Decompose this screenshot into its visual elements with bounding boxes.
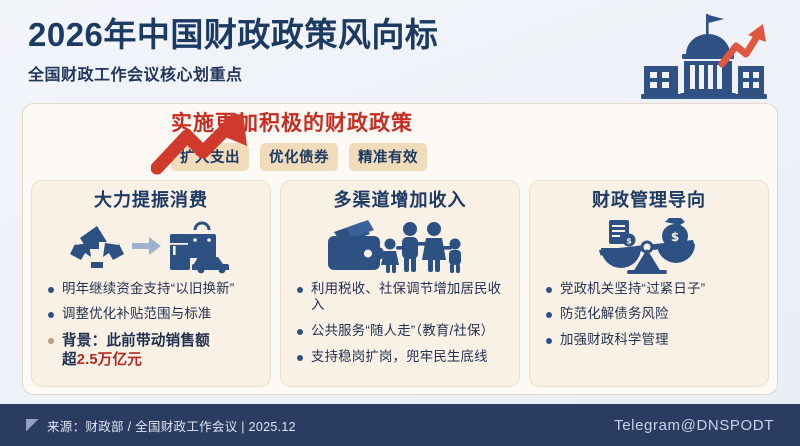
card-title: 财政管理导向 xyxy=(540,190,758,212)
bullet-dot-icon xyxy=(48,287,54,293)
list-item: 公共服务“随人走”（教育/社保） xyxy=(297,323,507,340)
page-footer: 来源：财政部 / 全国财政工作会议 | 2025.12 Telegram@DNS… xyxy=(0,404,800,446)
list-item: 加强财政科学管理 xyxy=(546,332,756,349)
bullet-text: 调整优化补贴范围与标准 xyxy=(62,306,212,323)
bullet-text: 防范化解债务风险 xyxy=(560,306,669,323)
list-item: 利用税收、社保调节增加居民收入 xyxy=(297,281,507,315)
page-header: 2026年中国财政政策风向标 全国财政工作会议核心划重点 xyxy=(0,0,800,104)
footer-source-group: 来源：财政部 / 全国财政工作会议 | 2025.12 xyxy=(26,416,296,435)
bullet-dot-icon xyxy=(297,287,303,293)
bullet-text: 加强财政科学管理 xyxy=(560,332,669,349)
red-rising-arrow-icon xyxy=(151,110,261,176)
card-bullet-list: 利用税收、社保调节增加居民收入 公共服务“随人走”（教育/社保） 支持稳岗扩岗，… xyxy=(291,281,509,366)
policy-banner: 实施更加积极的财政政策 扩大支出 优化债券 精准有效 xyxy=(23,104,777,179)
bullet-text: 支持稳岗扩岗，兜牢民生底线 xyxy=(311,349,488,366)
list-item: 支持稳岗扩岗，兜牢民生底线 xyxy=(297,349,507,366)
list-item: 防范化解债务风险 xyxy=(546,306,756,323)
bullet-dot-icon xyxy=(546,287,552,293)
footer-source-text: 来源：财政部 / 全国财政工作会议 | 2025.12 xyxy=(47,416,296,435)
banner-chip-1: 优化债券 xyxy=(260,143,338,171)
bullet-dot-icon xyxy=(297,329,303,335)
list-item: 调整优化补贴范围与标准 xyxy=(48,306,258,323)
wallet-and-family-icon xyxy=(291,216,509,274)
bullet-amount-highlight: 2.5万亿元 xyxy=(77,352,142,368)
bullet-dot-icon xyxy=(546,338,552,344)
card-bullet-list: 党政机关坚持“过紧日子” 防范化解债务风险 加强财政科学管理 xyxy=(540,281,758,349)
card-income: 多渠道增加收入 xyxy=(280,180,520,387)
list-item: 党政机关坚持“过紧日子” xyxy=(546,281,756,298)
footer-channel-text: Telegram@DNSPODT xyxy=(614,417,774,434)
bullet-dot-icon xyxy=(48,338,54,344)
list-item: 明年继续资金支持“以旧换新” xyxy=(48,281,258,298)
content-panel: 实施更加积极的财政政策 扩大支出 优化债券 精准有效 大力提振消费 xyxy=(22,103,778,395)
card-title: 大力提振消费 xyxy=(42,190,260,212)
bullet-text: 明年继续资金支持“以旧换新” xyxy=(62,281,234,298)
card-title: 多渠道增加收入 xyxy=(291,190,509,212)
bullet-text: 党政机关坚持“过紧日子” xyxy=(560,281,705,298)
card-management: 财政管理导向 $ $ xyxy=(529,180,769,387)
list-item-background: 背景：此前带动销售额 超2.5万亿元 xyxy=(48,332,258,370)
government-building-growth-arrow-icon xyxy=(626,8,774,104)
bullet-text: 公共服务“随人走”（教育/社保） xyxy=(311,323,494,340)
bullet-dot-icon xyxy=(48,312,54,318)
bullet-text: 利用税收、社保调节增加居民收入 xyxy=(311,281,507,315)
banner-chip-2: 精准有效 xyxy=(349,143,427,171)
bullet-amount-prefix: 超 xyxy=(62,352,77,368)
balance-scale-document-moneybag-icon: $ $ xyxy=(540,216,758,274)
bullet-dot-icon xyxy=(546,312,552,318)
svg-text:$: $ xyxy=(626,236,632,245)
card-consumption: 大力提振消费 xyxy=(31,180,271,387)
card-row: 大力提振消费 xyxy=(31,180,769,387)
recycle-to-goods-trade-in-icon xyxy=(42,216,260,274)
source-mark-icon xyxy=(26,419,39,432)
bullet-dot-icon xyxy=(297,355,303,361)
bullet-text: 背景：此前带动销售额 xyxy=(62,333,210,349)
card-bullet-list: 明年继续资金支持“以旧换新” 调整优化补贴范围与标准 背景：此前带动销售额 超2… xyxy=(42,281,260,370)
